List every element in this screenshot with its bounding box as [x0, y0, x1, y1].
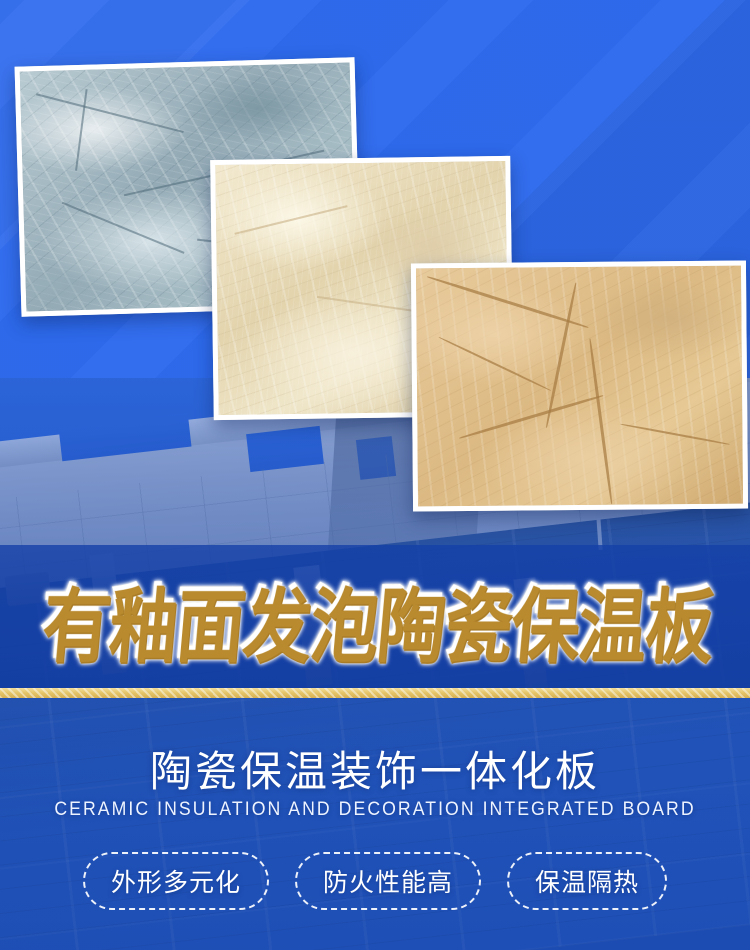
- feature-badge-shape-variety[interactable]: 外形多元化: [83, 852, 269, 910]
- subtitle-chinese: 陶瓷保温装饰一体化板: [0, 738, 750, 799]
- gold-divider-bar: [0, 688, 750, 698]
- feature-badge-thermal-insulation[interactable]: 保温隔热: [507, 852, 667, 910]
- tile-texture: [416, 266, 743, 507]
- subtitle-english: CERAMIC INSULATION AND DECORATION INTEGR…: [26, 799, 724, 821]
- sample-tile-tan-marble[interactable]: [411, 261, 748, 512]
- headline: 有釉面发泡陶瓷保温板: [0, 578, 750, 670]
- feature-badge-list: 外形多元化 防火性能高 保温隔热: [0, 852, 750, 910]
- product-banner: 有釉面发泡陶瓷保温板 有釉面发泡陶瓷保温板 陶瓷保温装饰一体化板 CERAMIC…: [0, 0, 750, 950]
- headline-text: 有釉面发泡陶瓷保温板: [36, 584, 713, 664]
- feature-badge-fire-resistance[interactable]: 防火性能高: [295, 852, 481, 910]
